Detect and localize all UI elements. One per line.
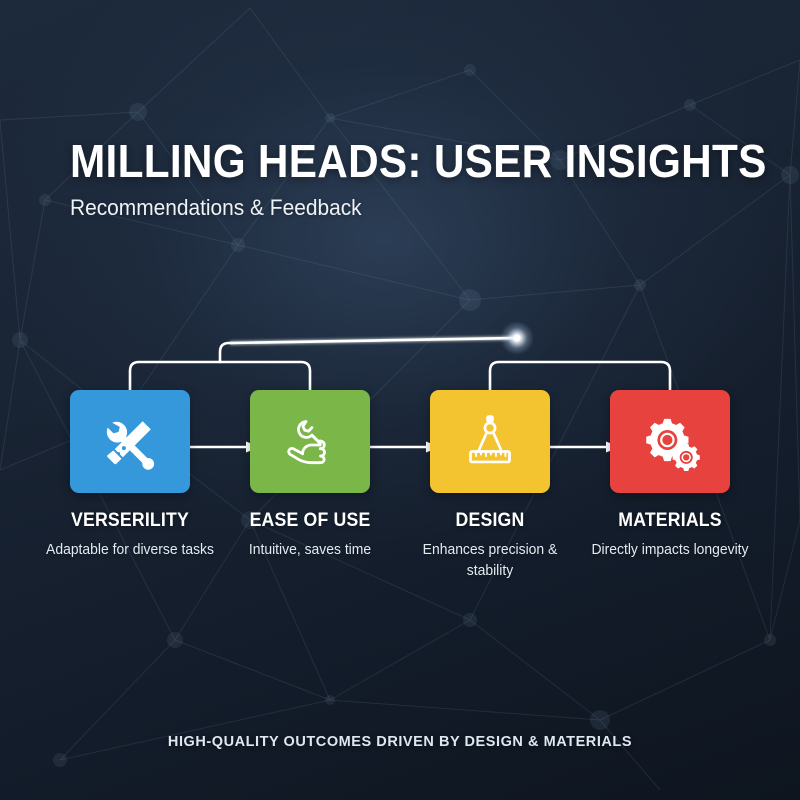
crossed-tools-icon — [100, 412, 160, 472]
step-description: Enhances precision & stability — [404, 540, 577, 581]
step-description: Intuitive, saves time — [224, 540, 397, 561]
page-title: MILLING HEADS: USER INSIGHTS — [70, 138, 714, 186]
step-icon-tile[interactable] — [430, 390, 550, 493]
step-label: DESIGN — [406, 510, 573, 532]
gears-icon — [639, 413, 701, 471]
step-description: Directly impacts longevity — [584, 540, 757, 561]
infographic-canvas: MILLING HEADS: USER INSIGHTS Recommendat… — [0, 0, 800, 800]
step-label: MATERIALS — [586, 510, 753, 532]
step-label: EASE OF USE — [226, 510, 393, 532]
step-icon-tile[interactable] — [250, 390, 370, 493]
hand-wrench-icon — [281, 413, 339, 471]
step-icon-tile[interactable] — [70, 390, 190, 493]
compass-ruler-icon — [461, 413, 519, 471]
step-card-materials[interactable]: MATERIALS Directly impacts longevity — [580, 390, 760, 561]
step-card-versatility[interactable]: VERSERILITY Adaptable for diverse tasks — [40, 390, 220, 561]
step-label: VERSERILITY — [46, 510, 213, 532]
step-card-design[interactable]: DESIGN Enhances precision & stability — [400, 390, 580, 581]
step-description: Adaptable for diverse tasks — [44, 540, 217, 561]
page-subtitle: Recommendations & Feedback — [70, 195, 735, 221]
step-icon-tile[interactable] — [610, 390, 730, 493]
steps-row: VERSERILITY Adaptable for diverse tasks — [0, 390, 800, 600]
step-card-ease-of-use[interactable]: EASE OF USE Intuitive, saves time — [220, 390, 400, 561]
footer-tagline: HIGH-QUALITY OUTCOMES DRIVEN BY DESIGN &… — [0, 734, 800, 750]
header-block: MILLING HEADS: USER INSIGHTS Recommendat… — [70, 138, 770, 221]
